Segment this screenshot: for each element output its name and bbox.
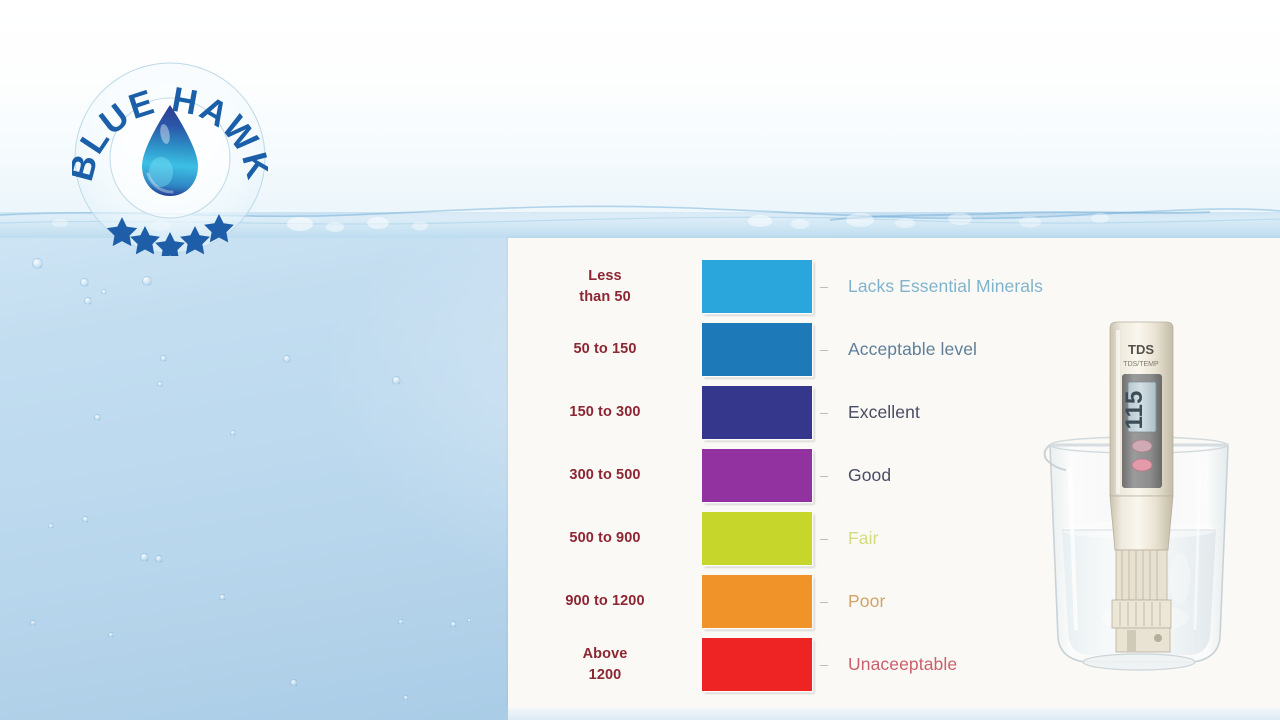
connector-tick: [820, 476, 828, 477]
swatch-cell: [702, 512, 822, 565]
swatch-cell: [702, 386, 822, 439]
connector-tick: [820, 665, 828, 666]
connector-tick: [820, 413, 828, 414]
connector-tick: [820, 602, 828, 603]
slide-canvas: BLUE HAWK Less than 50: [0, 0, 1280, 720]
lcd-reading: 115: [1121, 391, 1148, 430]
quality-label: Unaceeptable: [822, 654, 957, 675]
color-swatch: [702, 575, 812, 628]
swatch-cell: [702, 638, 822, 691]
table-row: 150 to 300 Excellent: [508, 381, 1068, 444]
device-sub-text: TDS/TEMP: [1123, 361, 1159, 368]
color-swatch: [702, 260, 812, 313]
table-row: 300 to 500 Good: [508, 444, 1068, 507]
color-swatch: [702, 386, 812, 439]
tds-chart-rows: Less than 50 Lacks Essential Minerals 50…: [508, 255, 1068, 696]
table-row: 50 to 150 Acceptable level: [508, 318, 1068, 381]
tds-range: 900 to 1200: [508, 591, 702, 612]
table-row: Above 1200 Unaceeptable: [508, 633, 1068, 696]
swatch-cell: [702, 323, 822, 376]
temp-button[interactable]: [1132, 459, 1152, 471]
color-swatch: [702, 638, 812, 691]
swatch-cell: [702, 260, 822, 313]
probe-tip: [1116, 628, 1170, 652]
device-brand-text: TDS: [1128, 342, 1154, 357]
quality-label: Acceptable level: [822, 339, 977, 360]
quality-label: Lacks Essential Minerals: [822, 276, 1043, 297]
tds-range: 500 to 900: [508, 528, 702, 549]
blue-hawk-logo: BLUE HAWK: [72, 60, 268, 256]
tds-meter-in-beaker: 115 TDS TDS/TEMP: [1040, 318, 1270, 710]
color-swatch: [702, 449, 812, 502]
swatch-cell: [702, 575, 822, 628]
hold-button[interactable]: [1132, 440, 1152, 452]
tds-meter-device: 115 TDS TDS/TEMP: [1110, 322, 1173, 652]
connector-tick: [820, 539, 828, 540]
quality-label: Fair: [822, 528, 879, 549]
connector-tick: [820, 350, 828, 351]
tds-range: 50 to 150: [508, 339, 702, 360]
tds-range: Less than 50: [508, 266, 702, 307]
connector-tick: [820, 287, 828, 288]
quality-label: Excellent: [822, 402, 920, 423]
color-swatch: [702, 512, 812, 565]
tds-range: 150 to 300: [508, 402, 702, 423]
color-swatch: [702, 323, 812, 376]
table-row: 500 to 900 Fair: [508, 507, 1068, 570]
quality-label: Poor: [822, 591, 885, 612]
table-row: Less than 50 Lacks Essential Minerals: [508, 255, 1068, 318]
tds-range: 300 to 500: [508, 465, 702, 486]
quality-label: Good: [822, 465, 891, 486]
tds-range: Above 1200: [508, 644, 702, 685]
table-row: 900 to 1200 Poor: [508, 570, 1068, 633]
swatch-cell: [702, 449, 822, 502]
